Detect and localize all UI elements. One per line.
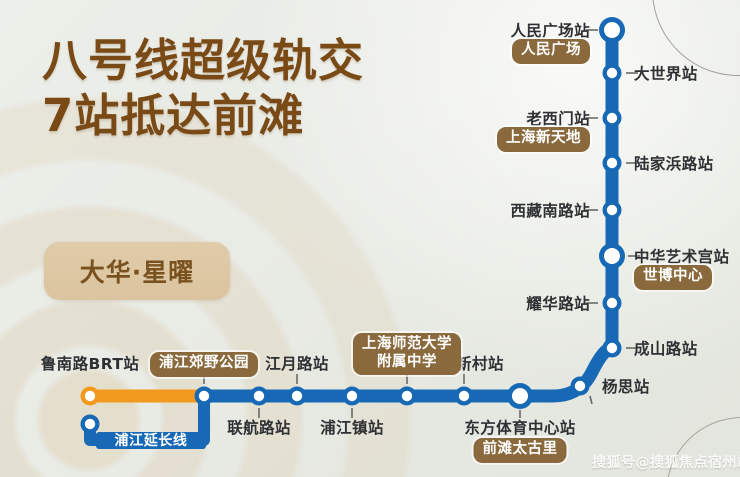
station-dot[interactable] [603, 154, 622, 173]
station-label: 江月路站 [265, 352, 329, 374]
station-label: 浦江镇站 [320, 416, 384, 438]
station-dot[interactable] [603, 294, 622, 313]
poi-badge: 浦江郊野公园 [150, 352, 258, 377]
watermark: 搜狐号@搜狐焦点宿州站 [592, 452, 740, 472]
station-label: 大世界站 [634, 62, 698, 84]
poi-badge: 世博中心 [634, 265, 712, 290]
brand-badge: 大华·星曜 [44, 242, 230, 300]
station-dot[interactable] [603, 339, 622, 358]
station-label: 耀华路站 [526, 292, 590, 314]
station-dot[interactable] [288, 387, 307, 406]
station-dot[interactable] [81, 415, 100, 434]
station-label: 陆家浜路站 [634, 152, 714, 174]
station-label: 中华艺术宫站 [634, 245, 729, 267]
poi-badge: 人民广场 [512, 39, 590, 64]
station-dot[interactable] [603, 64, 622, 83]
station-label: 成山路站 [634, 337, 698, 359]
station-label: 杨思站 [602, 375, 650, 397]
station-dot[interactable] [195, 387, 214, 406]
poi-badge: 前滩太古里 [474, 438, 567, 463]
station-dot[interactable] [599, 243, 625, 269]
station-dot[interactable] [599, 17, 625, 43]
poi-badge: 上海师范大学附属中学 [353, 333, 461, 375]
station-dot[interactable] [603, 109, 622, 128]
station-dot[interactable] [455, 387, 474, 406]
poi-badge: 上海新天地 [497, 127, 590, 152]
branch-line-tag: 浦江延长线 [115, 430, 188, 450]
headline-block: 八号线超级轨交 7站抵达前滩 [42, 38, 364, 139]
station-dot[interactable] [571, 377, 590, 396]
poster-canvas: 八号线超级轨交 7站抵达前滩 大华·星曜 [0, 0, 740, 477]
station-dot[interactable] [343, 387, 362, 406]
headline-line-1: 八号线超级轨交 [42, 38, 364, 84]
brand-badge-label: 大华·星曜 [80, 253, 195, 289]
station-dot[interactable] [507, 383, 533, 409]
station-dot[interactable] [398, 387, 417, 406]
station-label: 鲁南路BRT站 [41, 352, 139, 374]
headline-line-2: 7站抵达前滩 [42, 93, 364, 139]
station-label: 东方体育中心站 [464, 416, 575, 438]
station-dot[interactable] [81, 387, 100, 406]
station-label: 联航路站 [227, 416, 291, 438]
station-dot[interactable] [603, 201, 622, 220]
station-label: 人民广场站 [510, 19, 590, 41]
station-label: 西藏南路站 [510, 199, 590, 221]
station-dot[interactable] [250, 387, 269, 406]
station-label: 老西门站 [526, 107, 590, 129]
